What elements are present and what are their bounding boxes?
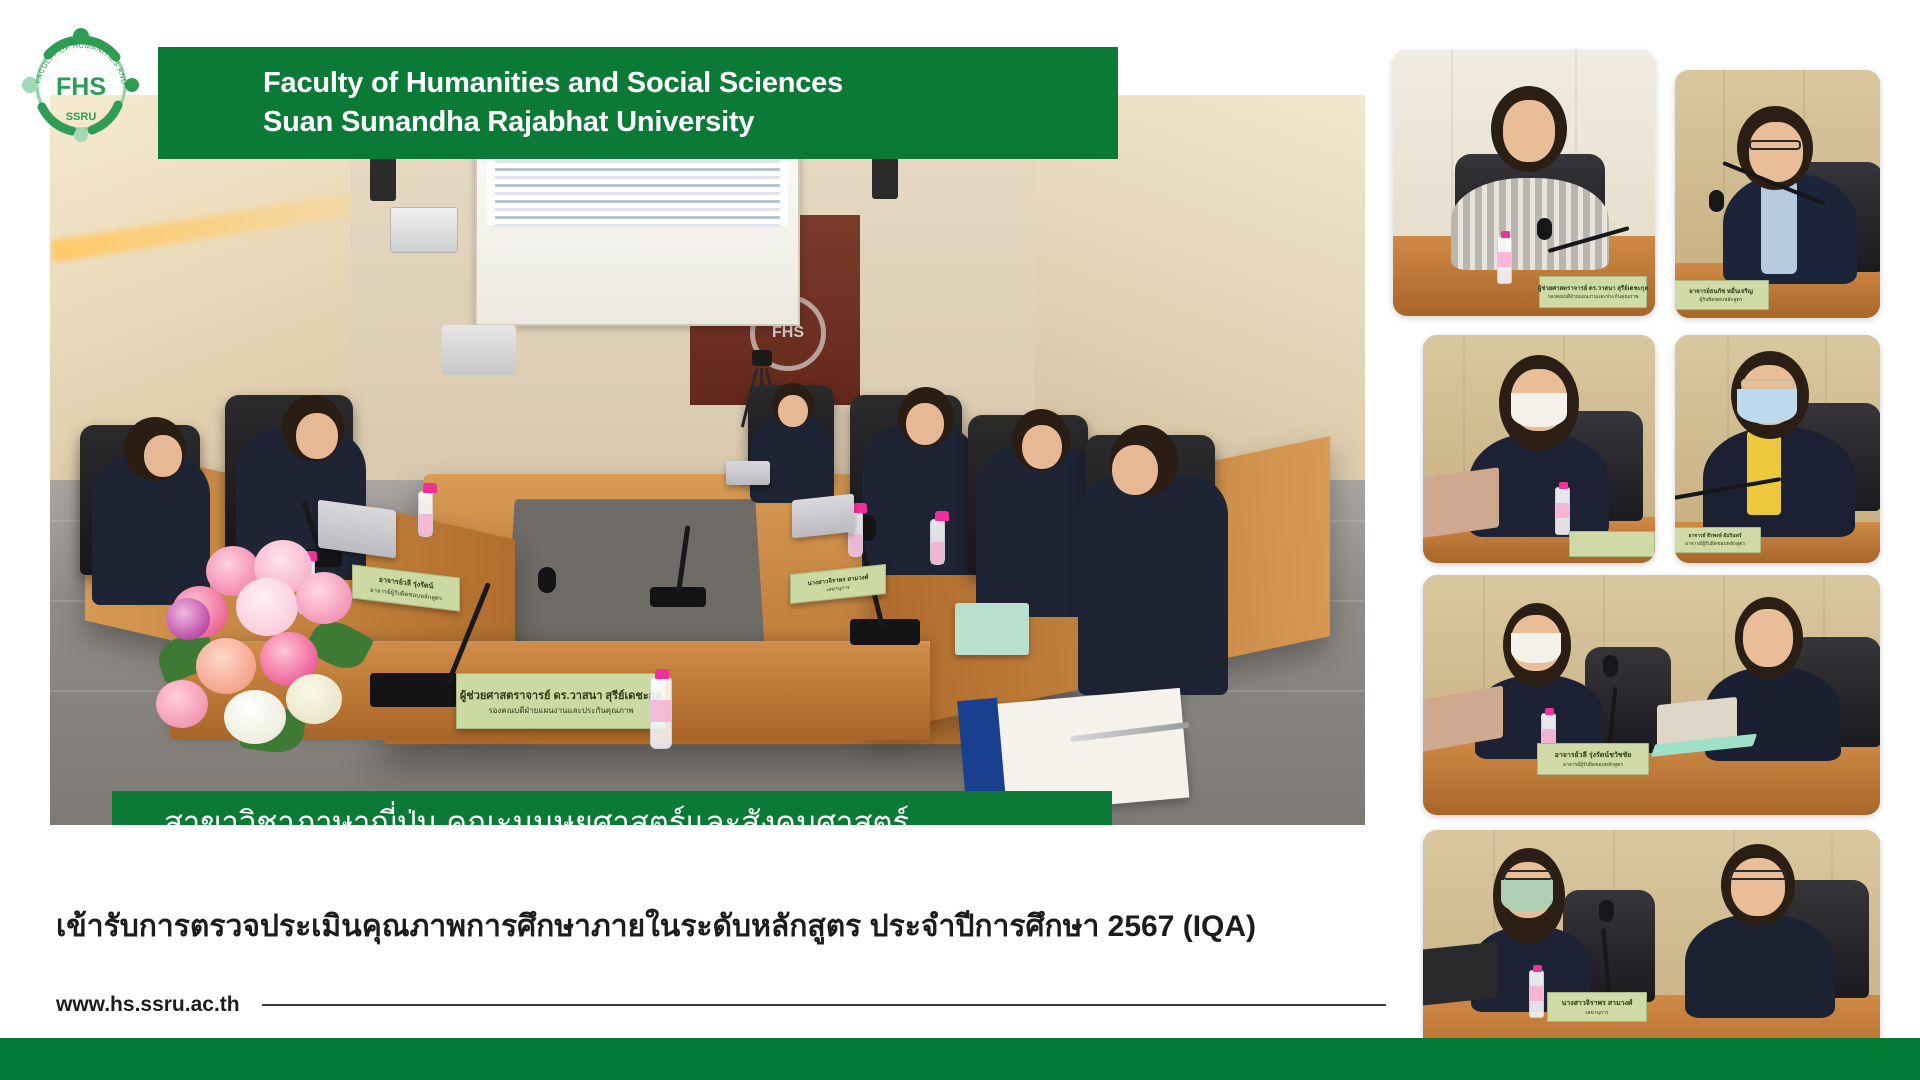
tablet [955,603,1029,655]
main-photo-caption-text: สาขาวิชาภาษาญี่ปุ่น คณะมนุษยศาสตร์และสัง… [164,797,909,825]
rose [196,638,256,694]
nameplate: ผู้ช่วยศาสตราจารย์ ดร.วาสนา สุรีย์เดชะกุ… [1539,276,1647,308]
nameplate-role: อาจารย์ผู้รับผิดชอบหลักสูตร [1685,540,1745,548]
page-caption: เข้ารับการตรวจประเมินคุณภาพการศึกษาภายใน… [56,903,1356,950]
nameplate-name: ผู้ช่วยศาสตราจารย์ ดร.วาสนา สุรีย์เดชะกุ… [1538,283,1648,293]
attendee-face [1112,445,1158,495]
rose [166,598,210,640]
fhs-logo: FACULTY OF HUMANITIES AND SOCIAL SCIENCE… [18,23,143,148]
attendee-face [296,413,338,459]
header-band: Faculty of Humanities and Social Science… [158,47,1118,159]
microphone-base [370,673,458,707]
photo-woman-white-mask-laptop [1423,335,1655,563]
face-mask [1511,393,1567,427]
nameplate-name: ผู้ช่วยศาสตราจารย์ ดร.วาสนา สุรีย์เดชะกุ… [460,686,662,704]
attendee-face [778,395,808,427]
glasses-icon [1749,140,1801,150]
horizontal-rule [262,1004,1386,1006]
nameplate-name: อาจารย์ธนกัช หมื่นเจริญ [1689,286,1753,296]
rose [236,578,298,636]
photo-woman-striped-shirt: ผู้ช่วยศาสตราจารย์ ดร.วาสนา สุรีย์เดชะกุ… [1393,50,1655,316]
face-mask [1737,389,1797,423]
attendee-face [906,403,944,445]
microphone-base [850,619,920,645]
nameplate-role: รองคณบดีฝ่ายแผนงานและประกันคุณภาพ [488,704,633,717]
poster-root: FHS [0,0,1920,1080]
main-photo-caption-band: สาขาวิชาภาษาญี่ปุ่น คณะมนุษยศาสตร์และสัง… [112,791,1112,825]
water-bottle [418,491,433,537]
nameplate-role: รองคณบดีฝ่ายแผนงานและประกันคุณภาพ [1548,293,1639,301]
nameplate-name: อาจารย์ ธีรพงษ์ อัมรินทร์ [1688,532,1741,540]
nameplate-name: นางสาวจิราพร สามวงศ์ [1562,998,1633,1009]
photo-man-glasses-suit: อาจารย์ธนกัช หมื่นเจริญ ผู้รับผิดชอบหลัก… [1675,70,1880,318]
projector-screen [475,131,800,326]
flower-bouquet [150,540,380,745]
nameplate-role: เลขานุการ [1586,1009,1609,1017]
glasses-icon [1729,870,1787,880]
nameplate-role: ผู้รับผิดชอบหลักสูตร [1700,296,1743,304]
attendee-face [144,435,182,477]
laptop [792,494,854,539]
footer-url-row: www.hs.ssru.ac.th [56,993,1386,1017]
website-url[interactable]: www.hs.ssru.ac.th [56,993,240,1017]
attendee-right-3 [1078,475,1228,695]
rose [286,674,342,724]
nameplate: นางสาวจิราพร สามวงศ์ เลขานุการ [1547,992,1647,1022]
svg-text:FHS: FHS [56,73,106,101]
laptop [726,461,770,485]
photo-two-women-laptop-tablet: อาจารย์วลี รุ่งรัตน์ชวัชชัย อาจารย์ผู้รั… [1423,575,1880,815]
attendee-face [1022,425,1062,469]
nameplate: อาจารย์ ธีรพงษ์ อัมรินทร์ อาจารย์ผู้รับผ… [1675,527,1761,553]
main-meeting-photo: FHS [50,95,1365,825]
attendee-right-1 [862,425,978,575]
nameplate: อาจารย์ธนกัช หมื่นเจริญ ผู้รับผิดชอบหลัก… [1675,280,1769,310]
glasses-icon [1503,870,1553,880]
rose [224,690,286,744]
header-line-2: Suan Sunandha Rajabhat University [263,103,1118,142]
nameplate-name: อาจารย์วลี รุ่งรัตน์ชวัชชัย [1555,750,1632,761]
glasses-icon [1741,379,1795,389]
svg-text:SSRU: SSRU [66,111,97,123]
wall-equipment-box [442,325,516,375]
water-bottle [930,519,945,565]
nameplate-role: เลขานุการ [827,584,850,594]
rose [296,572,352,624]
photo-man-blue-mask-yellow-shirt: อาจารย์ ธีรพงษ์ อัมรินทร์ อาจารย์ผู้รับผ… [1675,335,1880,563]
photo-grid: ผู้ช่วยศาสตราจารย์ ดร.วาสนา สุรีย์เดชะกุ… [1393,50,1880,1060]
nameplate-role: อาจารย์ผู้รับผิดชอบหลักสูตร [1563,761,1623,769]
bottom-green-bar [0,1038,1920,1080]
rose [156,680,208,728]
header-line-1: Faculty of Humanities and Social Science… [263,64,1118,103]
microphone-head [538,567,556,593]
nameplate [1569,531,1655,557]
water-bottle [650,677,672,749]
nameplate: อาจารย์วลี รุ่งรัตน์ชวัชชัย อาจารย์ผู้รั… [1537,743,1649,775]
meeting-room-scene: FHS [50,95,1365,825]
air-conditioner-unit [390,207,458,253]
face-mask [1511,633,1561,663]
nameplate-main: ผู้ช่วยศาสตราจารย์ ดร.วาสนา สุรีย์เดชะกุ… [456,673,666,729]
face-mask [1501,880,1553,912]
